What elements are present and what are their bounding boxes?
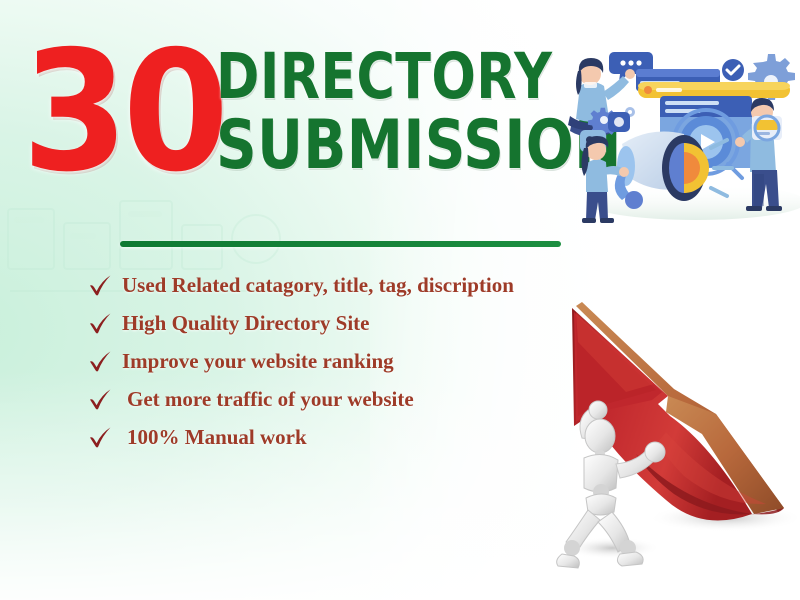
title-line-submission: SUBMISSION <box>216 111 531 181</box>
title-underline-rule <box>120 241 561 247</box>
search-bar <box>638 82 790 98</box>
feature-label: High Quality Directory Site <box>122 311 370 335</box>
feature-label: Used Related catagory, title, tag, discr… <box>122 273 514 297</box>
check-icon <box>86 270 116 300</box>
headline-block: 30 DIRECTORY SUBMISSION <box>0 36 600 221</box>
check-badge-icon <box>722 59 744 81</box>
feature-label: Improve your website ranking <box>122 349 394 373</box>
title-lines: DIRECTORY SUBMISSION <box>216 46 596 181</box>
quantity-number: 30 <box>22 30 223 196</box>
promo-poster: 30 DIRECTORY SUBMISSION Used Related cat… <box>0 0 800 600</box>
check-icon <box>86 346 116 376</box>
check-icon <box>86 308 116 338</box>
check-icon <box>86 384 116 414</box>
growth-arrow-scene <box>516 286 800 576</box>
check-icon <box>86 422 116 452</box>
feature-label: Get more traffic of your website <box>122 387 414 411</box>
feature-label: 100% Manual work <box>122 425 307 449</box>
image-card-icon <box>752 116 782 140</box>
title-line-directory: DIRECTORY <box>216 46 531 108</box>
digital-marketing-illustration <box>556 24 800 224</box>
